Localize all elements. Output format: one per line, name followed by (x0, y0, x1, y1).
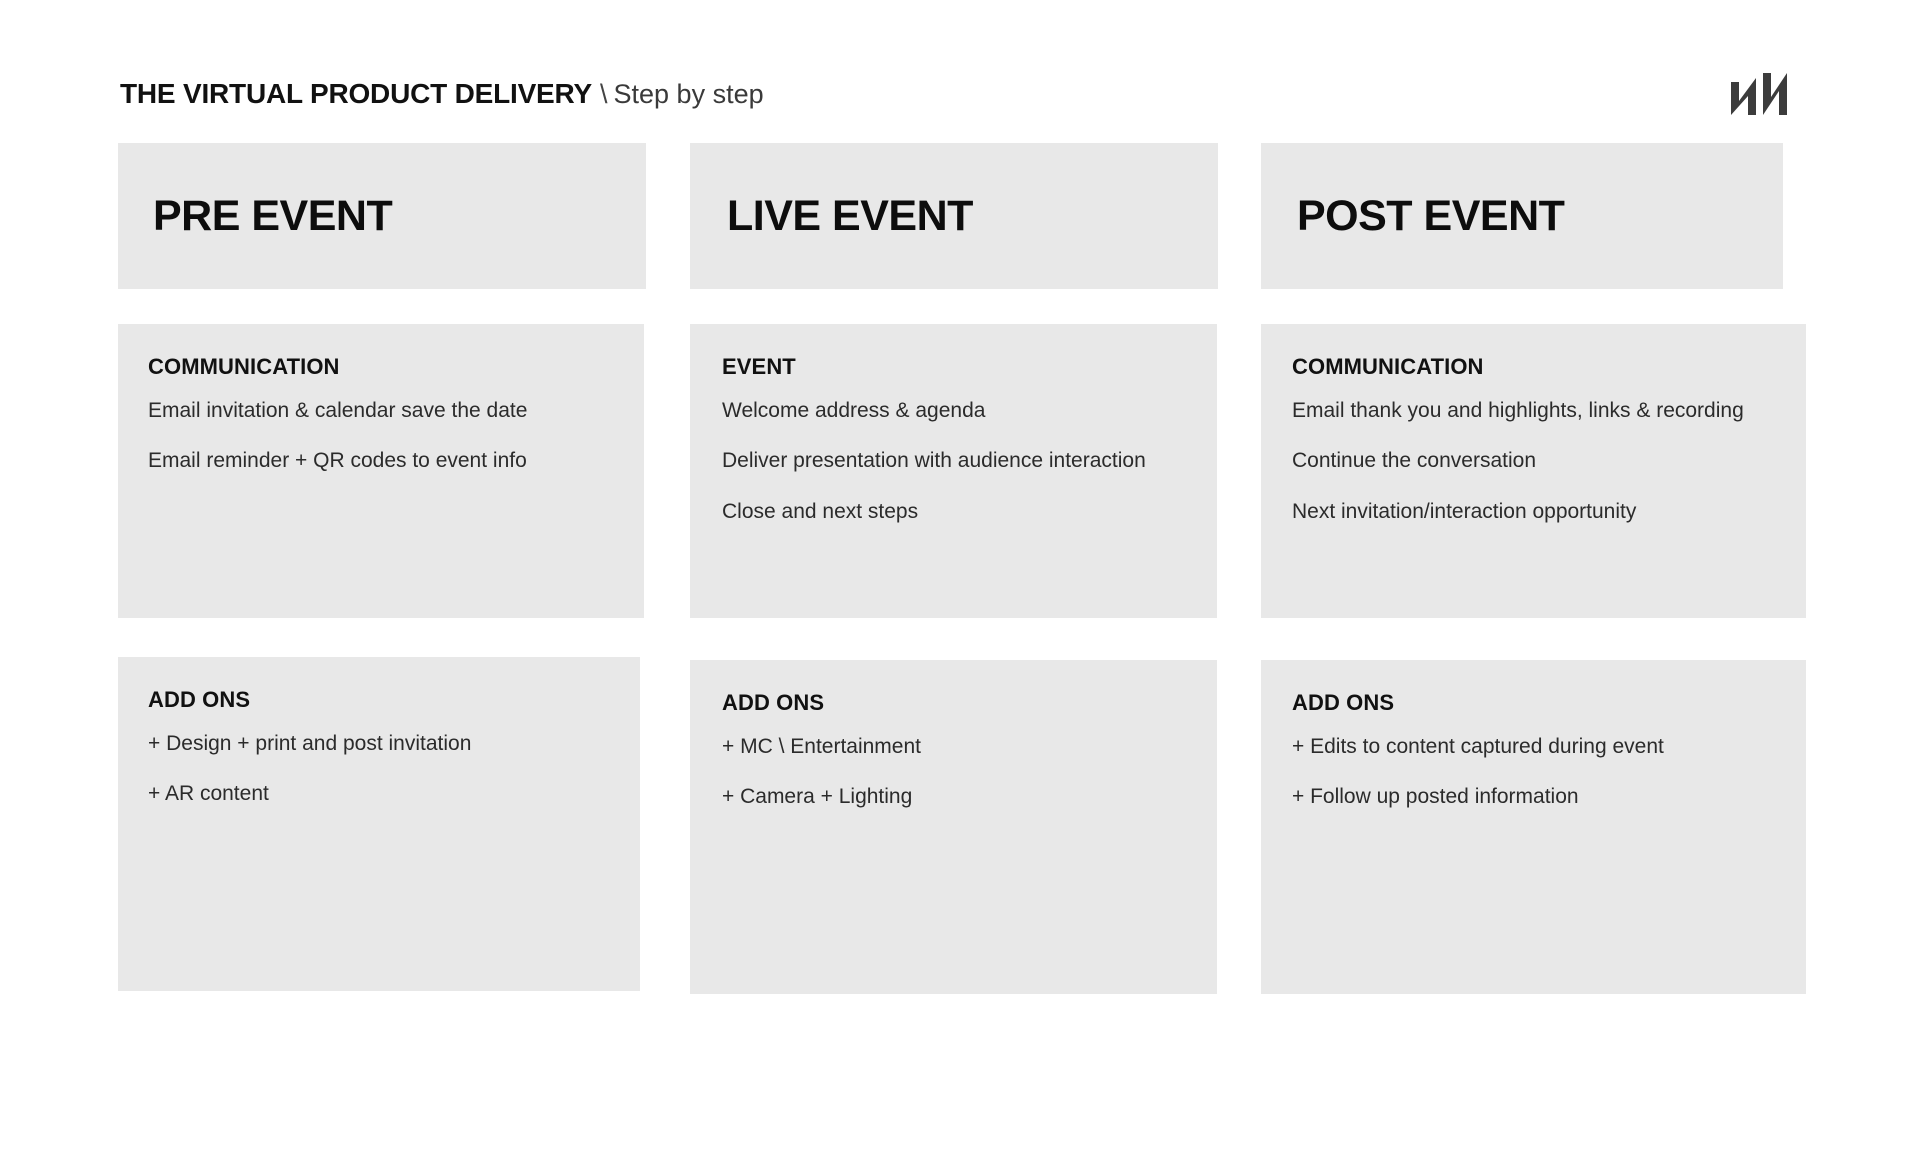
section-line-item: Email reminder + QR codes to event info (148, 448, 644, 474)
section-card-live-event-event: EVENTWelcome address & agendaDeliver pre… (690, 324, 1217, 618)
section-card-post-event-communication: COMMUNICATIONEmail thank you and highlig… (1261, 324, 1806, 618)
section-line-item: Next invitation/interaction opportunity (1292, 499, 1806, 525)
section-line-item: + Camera + Lighting (722, 784, 1217, 810)
section-line-item: Continue the conversation (1292, 448, 1806, 474)
section-title: ADD ONS (1292, 690, 1806, 716)
section-line-item: Email thank you and highlights, links & … (1292, 398, 1806, 424)
column-header-label: LIVE EVENT (727, 192, 973, 241)
section-title: ADD ONS (722, 690, 1217, 716)
section-title: EVENT (722, 354, 1217, 380)
section-card-pre-event-add-ons: ADD ONS+ Design + print and post invitat… (118, 657, 640, 991)
slide-root: THE VIRTUAL PRODUCT DELIVERY \ Step by s… (0, 0, 1920, 1164)
section-line-item: + MC \ Entertainment (722, 734, 1217, 760)
section-title: COMMUNICATION (148, 354, 644, 380)
column-header-post-event: POST EVENT (1261, 143, 1783, 289)
columns-board: PRE EVENTCOMMUNICATIONEmail invitation &… (0, 0, 1920, 1164)
column-header-label: POST EVENT (1297, 192, 1564, 241)
section-card-pre-event-communication: COMMUNICATIONEmail invitation & calendar… (118, 324, 644, 618)
column-header-live-event: LIVE EVENT (690, 143, 1218, 289)
section-line-item: Email invitation & calendar save the dat… (148, 398, 644, 424)
column-header-label: PRE EVENT (153, 192, 392, 241)
section-card-post-event-add-ons: ADD ONS+ Edits to content captured durin… (1261, 660, 1806, 994)
section-line-item: + Design + print and post invitation (148, 731, 640, 757)
section-line-item: Welcome address & agenda (722, 398, 1217, 424)
section-line-item: Deliver presentation with audience inter… (722, 448, 1217, 474)
section-title: COMMUNICATION (1292, 354, 1806, 380)
section-line-item: + AR content (148, 781, 640, 807)
section-line-item: + Follow up posted information (1292, 784, 1806, 810)
column-header-pre-event: PRE EVENT (118, 143, 646, 289)
section-line-item: Close and next steps (722, 499, 1217, 525)
section-line-item: + Edits to content captured during event (1292, 734, 1806, 760)
section-card-live-event-add-ons: ADD ONS+ MC \ Entertainment+ Camera + Li… (690, 660, 1217, 994)
section-title: ADD ONS (148, 687, 640, 713)
